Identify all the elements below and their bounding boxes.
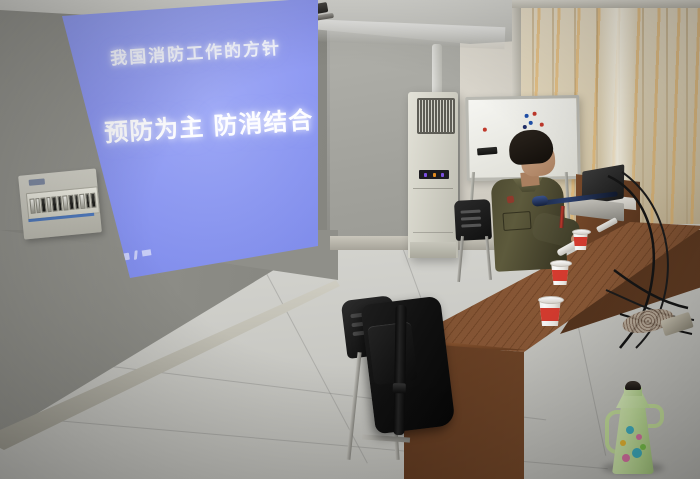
window-icon	[142, 249, 152, 256]
instructor-hair	[508, 129, 554, 166]
cup-red-band	[551, 270, 569, 281]
ac-seam	[413, 188, 453, 189]
ac-base	[410, 242, 456, 258]
ac-led-indicator	[433, 173, 436, 177]
ac-led-indicator	[424, 173, 427, 177]
uniform-badge-icon	[506, 195, 514, 203]
whiteboard-magnet-icon[interactable]	[525, 114, 529, 118]
ac-led-indicator	[441, 173, 444, 177]
uniform-pocket	[502, 211, 531, 231]
thermos-decoration-dot	[620, 440, 626, 446]
thermos-decoration-dot	[626, 426, 634, 434]
thermos-decoration-dot	[640, 444, 646, 450]
thermos-decoration-dot	[636, 434, 642, 440]
black-laptop-backpack[interactable]	[360, 296, 455, 435]
green-thermos-flask[interactable]	[606, 382, 660, 474]
backpack-front-pocket	[367, 321, 418, 385]
backpack-strap	[393, 305, 406, 435]
whiteboard-magnet-icon[interactable]	[529, 121, 533, 125]
cup-rim	[572, 229, 591, 235]
whiteboard-magnet-icon[interactable]	[523, 125, 527, 129]
cup-red-band	[539, 308, 561, 321]
backpack-buckle-icon	[393, 383, 406, 393]
whiteboard-magnet-icon[interactable]	[533, 112, 537, 116]
breaker-switch[interactable]	[90, 193, 96, 208]
chair-behind-desk[interactable]	[454, 199, 492, 241]
thermos-cap	[625, 381, 641, 390]
ac-pipe	[432, 44, 442, 96]
thermos-decoration-dot	[622, 454, 630, 462]
panel-brand-logo-icon	[29, 178, 46, 186]
ac-vent-grille-icon	[417, 98, 455, 134]
air-conditioner[interactable]	[408, 92, 458, 258]
thermos-spout	[648, 404, 664, 428]
curtain-rail	[512, 0, 700, 8]
whiteboard-magnet-icon[interactable]	[540, 123, 544, 127]
floor-cable	[604, 268, 700, 348]
classroom-scene: 我国消防工作的方针 预防为主 防消结合	[0, 0, 700, 479]
slash-icon	[134, 250, 138, 260]
cup-rim	[538, 296, 564, 304]
ac-seam-lower	[413, 232, 453, 233]
ac-display-panel	[419, 170, 449, 179]
circuit-breaker-panel[interactable]	[18, 168, 102, 239]
whiteboard-magnet-icon[interactable]	[483, 128, 487, 132]
cup-red-band	[573, 237, 588, 246]
cup-rim	[550, 260, 572, 267]
